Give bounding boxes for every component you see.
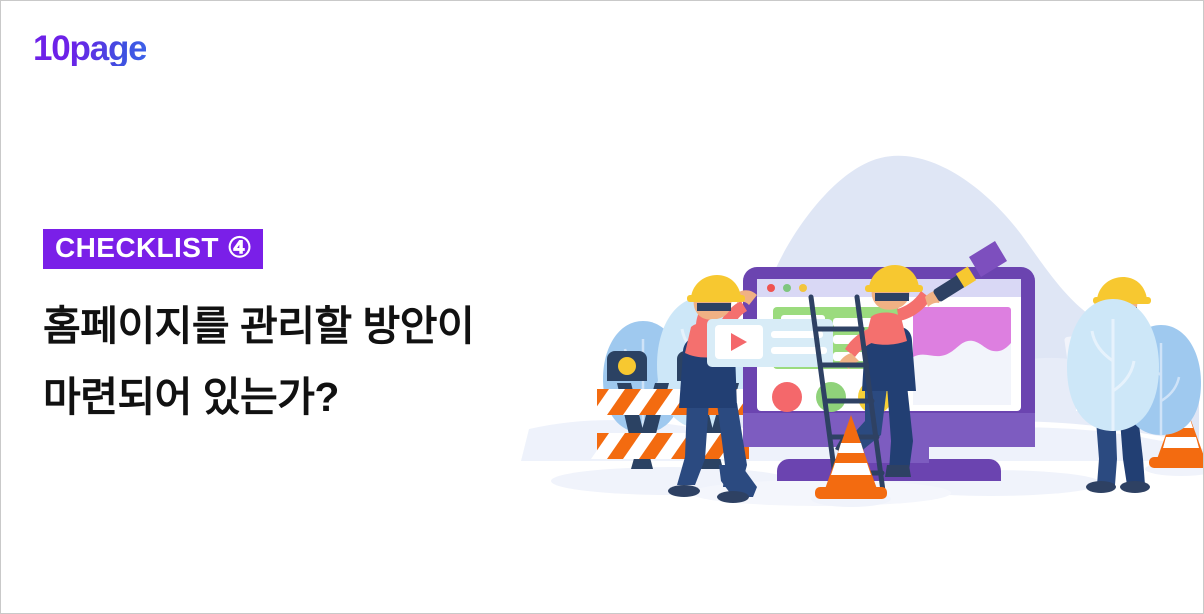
illustration xyxy=(521,121,1204,541)
tree-right-pale xyxy=(1067,299,1159,431)
brand-logo: 10page xyxy=(33,31,146,66)
worker-glasses xyxy=(697,303,731,311)
browser-dot-yellow xyxy=(799,284,807,292)
monitor-chin xyxy=(743,413,1035,447)
barricade-lamp-left xyxy=(607,351,647,381)
slide-canvas: 10page CHECKLIST ④ 홈페이지를 관리할 방안이 마련되어 있는… xyxy=(0,0,1204,614)
content-panel-magenta xyxy=(913,307,1011,405)
page-title: 홈페이지를 관리할 방안이 마련되어 있는가? xyxy=(43,291,563,432)
worker-helmet xyxy=(691,275,741,297)
headline-line-1: 홈페이지를 관리할 방안이 xyxy=(43,291,563,362)
content-circle-red xyxy=(772,382,802,412)
copy-block: CHECKLIST ④ 홈페이지를 관리할 방안이 마련되어 있는가? xyxy=(43,229,563,432)
browser-dot-green xyxy=(783,284,791,292)
browser-dot-red xyxy=(767,284,775,292)
headline-line-2: 마련되어 있는가? xyxy=(43,362,563,433)
checklist-badge: CHECKLIST ④ xyxy=(43,229,263,269)
